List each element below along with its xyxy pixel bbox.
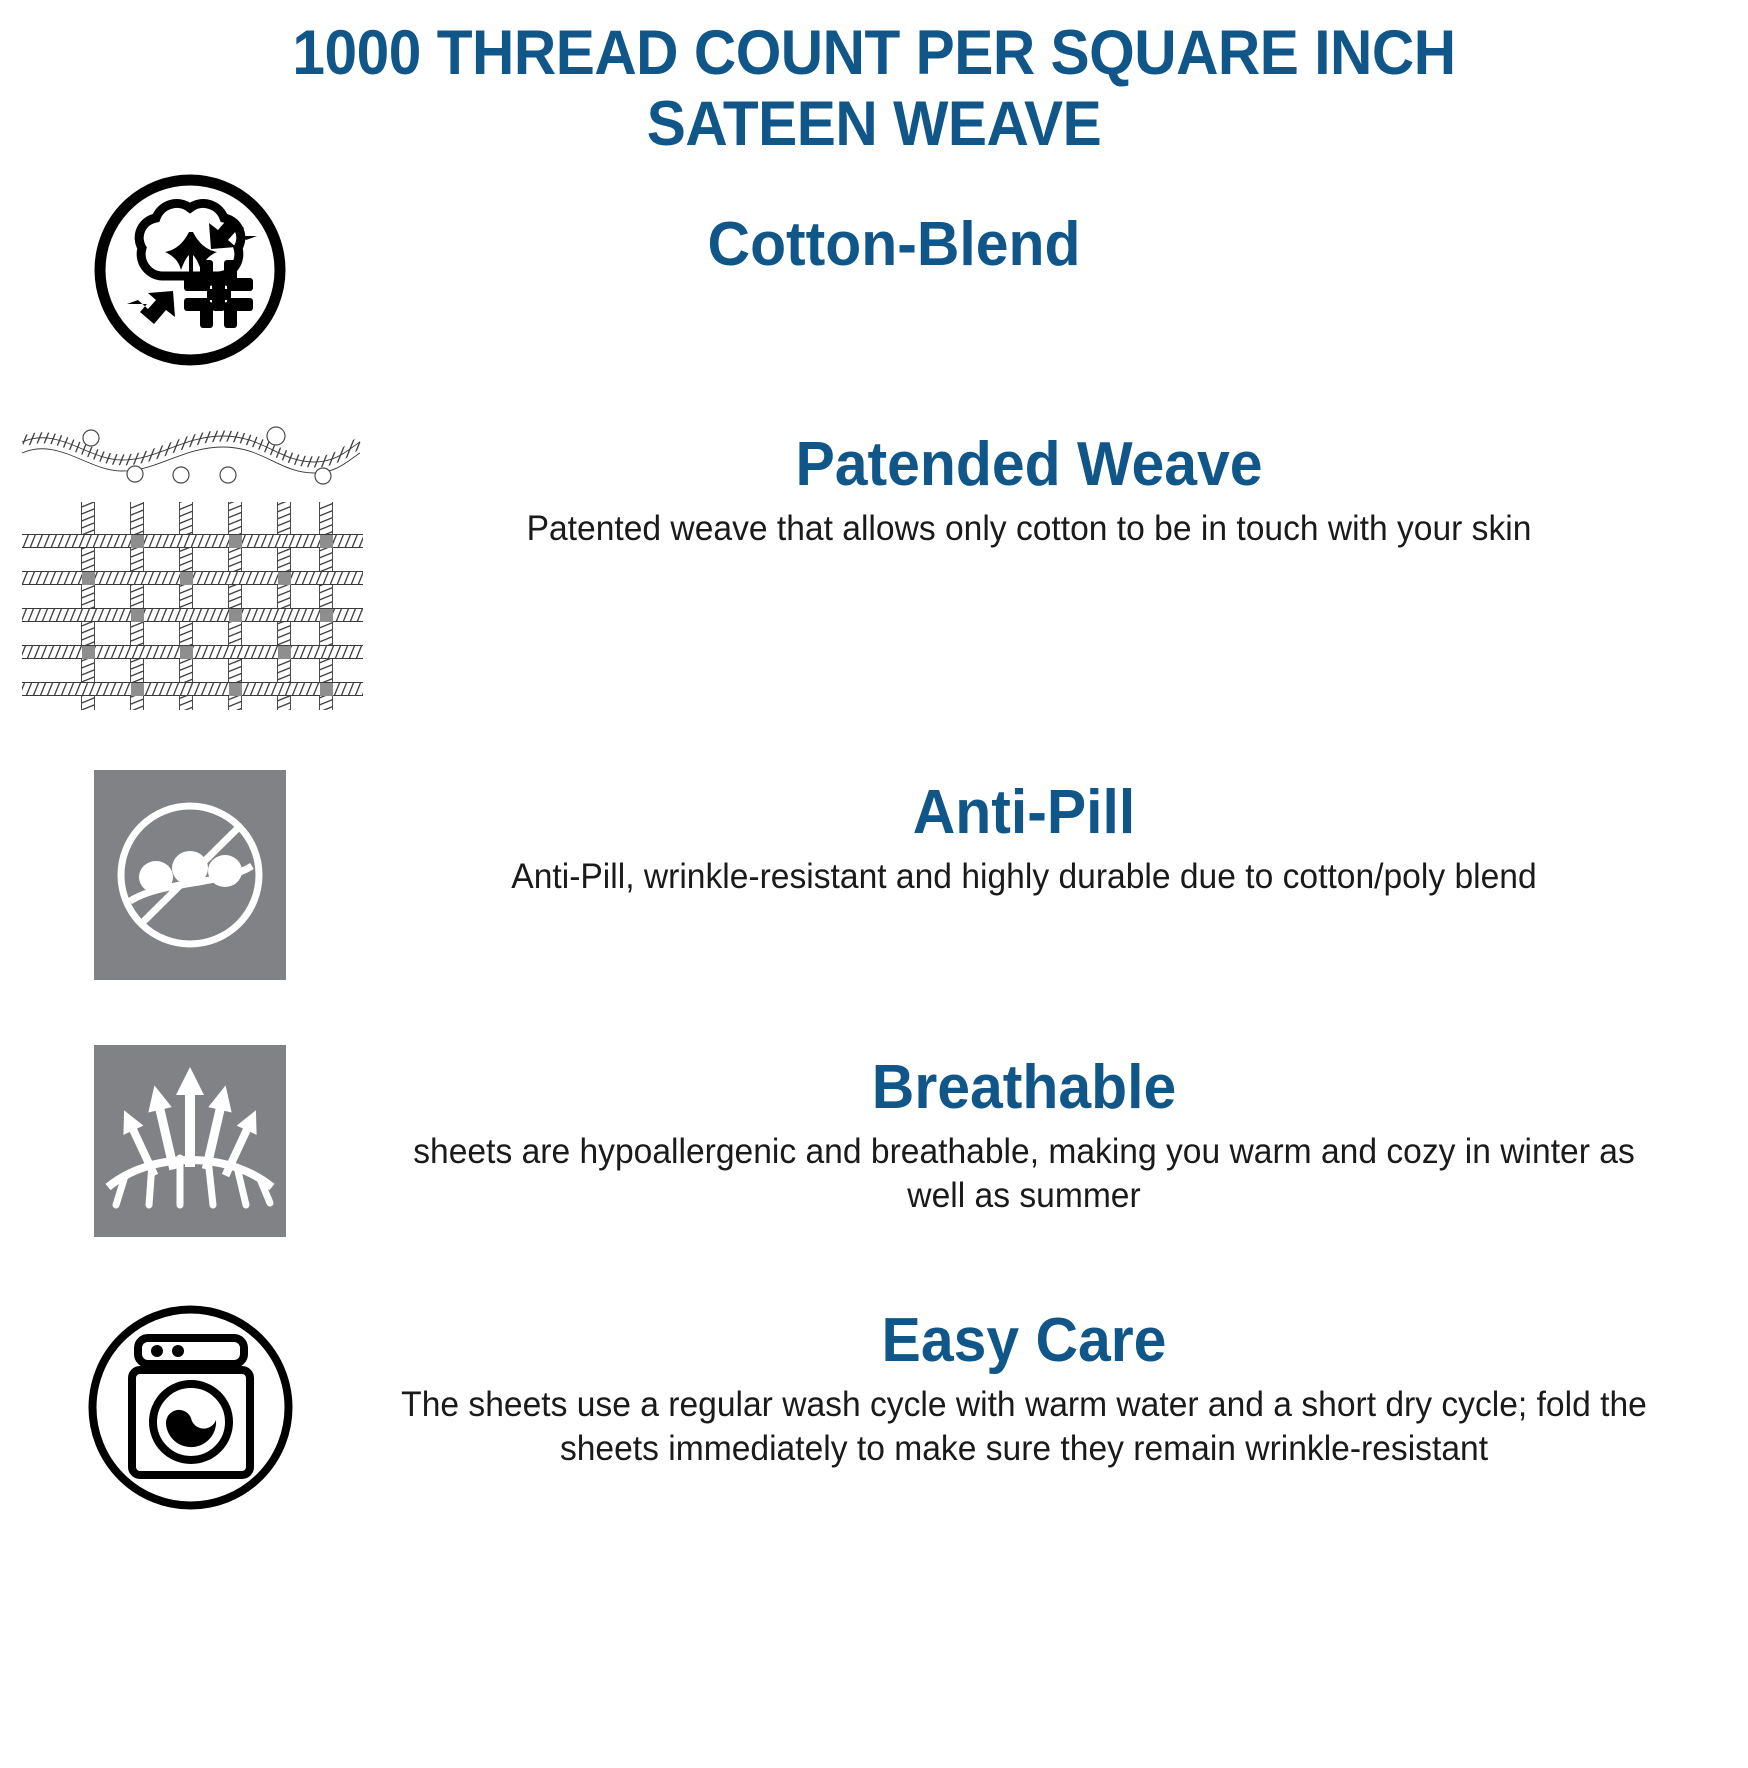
washing-machine-icon (83, 1300, 298, 1515)
feature-heading-easy-care: Easy Care (403, 1308, 1646, 1373)
no-pilling-icon-cell (0, 770, 370, 980)
feature-cotton-blend: Cotton-Blend (0, 170, 1748, 370)
page-title-line-1: 1000 THREAD COUNT PER SQUARE INCH (61, 18, 1687, 89)
woven-fabric-icon (18, 420, 363, 720)
feature-body-patended-weave: Patented weave that allows only cotton t… (396, 507, 1661, 551)
cotton-blend-text-cell: Cotton-Blend (370, 170, 1748, 287)
breathable-text-cell: Breathable sheets are hypoallergenic and… (370, 1045, 1748, 1218)
anti-pill-text-cell: Anti-Pill Anti-Pill, wrinkle-resistant a… (370, 770, 1748, 899)
feature-patended-weave: Patended Weave Patented weave that allow… (0, 420, 1748, 720)
feature-heading-patended-weave: Patended Weave (403, 432, 1655, 497)
woven-fabric-icon-cell (0, 420, 370, 720)
page-title: 1000 THREAD COUNT PER SQUARE INCH SATEEN… (0, 0, 1748, 159)
feature-body-easy-care: The sheets use a regular wash cycle with… (396, 1383, 1652, 1471)
breathable-arrows-icon (94, 1045, 286, 1237)
feature-breathable: Breathable sheets are hypoallergenic and… (0, 1045, 1748, 1237)
easy-care-text-cell: Easy Care The sheets use a regular wash … (370, 1300, 1748, 1471)
feature-heading-cotton-blend: Cotton-Blend (396, 212, 1392, 277)
page-title-line-2: SATEEN WEAVE (61, 89, 1687, 160)
washing-machine-icon-cell (0, 1300, 370, 1515)
feature-heading-anti-pill: Anti-Pill (403, 780, 1646, 845)
cotton-blend-icon (90, 170, 290, 370)
no-pilling-icon (94, 770, 286, 980)
feature-anti-pill: Anti-Pill Anti-Pill, wrinkle-resistant a… (0, 770, 1748, 980)
feature-body-breathable: sheets are hypoallergenic and breathable… (396, 1130, 1652, 1218)
feature-body-anti-pill: Anti-Pill, wrinkle-resistant and highly … (396, 855, 1652, 899)
patended-weave-text-cell: Patended Weave Patented weave that allow… (370, 420, 1748, 551)
cotton-blend-icon-cell (0, 170, 370, 370)
breathable-arrows-icon-cell (0, 1045, 370, 1237)
feature-easy-care: Easy Care The sheets use a regular wash … (0, 1300, 1748, 1515)
feature-heading-breathable: Breathable (403, 1055, 1646, 1120)
